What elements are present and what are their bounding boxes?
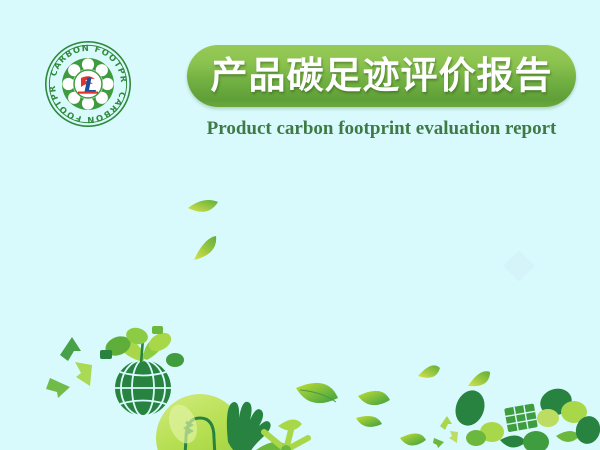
- floating-leaf-icon-2: [194, 236, 216, 260]
- floating-leaf-icon-1: [188, 200, 218, 212]
- recycle-icon: [46, 337, 92, 398]
- floating-leaf-icon-6: [400, 433, 426, 445]
- globe-icon: [115, 360, 171, 416]
- bottom-right-icon-cluster: [433, 385, 600, 450]
- floating-leaf-icon-4: [358, 391, 390, 405]
- cover-header: CARBON FOOTPRINT · CARBON FOOTPRINT ·: [0, 0, 600, 160]
- report-title-banner: 产品碳足迹评价报告: [187, 45, 576, 107]
- eco-icon-footprint-illustration: [0, 150, 600, 450]
- report-cover-page: CARBON FOOTPRINT · CARBON FOOTPRINT ·: [0, 0, 600, 450]
- battery-icon: [192, 438, 214, 450]
- floating-leaf-icon-8: [468, 371, 490, 386]
- floating-leaf-icon-7: [418, 365, 440, 377]
- recycle-icon-br: [433, 416, 458, 448]
- page-title: 产品碳足迹评价报告: [211, 57, 553, 96]
- carbon-footprint-seal-logo: CARBON FOOTPRINT · CARBON FOOTPRINT ·: [44, 40, 132, 128]
- floating-leaf-icon-5: [356, 416, 382, 427]
- solar-panel-icon-br: [504, 403, 538, 432]
- report-subtitle: Product carbon footprint evaluation repo…: [187, 118, 576, 140]
- floating-leaf-icon-3: [296, 383, 338, 403]
